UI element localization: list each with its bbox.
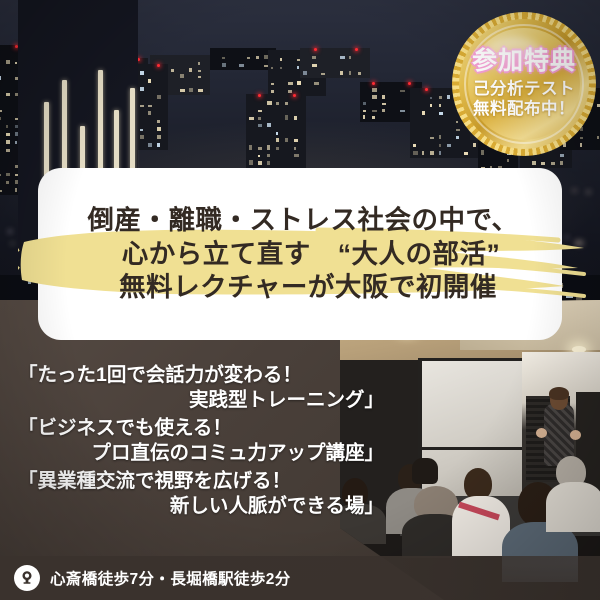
building-window <box>288 82 292 85</box>
building-window <box>413 144 416 147</box>
building-window <box>276 138 279 142</box>
building-window <box>439 112 443 115</box>
building-window <box>297 81 301 85</box>
building-window <box>258 124 262 127</box>
badge-gloss <box>484 37 544 75</box>
quote-list: 「たった1回で会話力が変わる！ 実践型トレーニング」 「ビジネスでも使える！ プ… <box>18 366 384 525</box>
building-window <box>198 76 201 78</box>
building-window <box>532 161 536 165</box>
building-window <box>267 154 270 157</box>
building-window <box>239 64 244 67</box>
building-window <box>6 93 10 96</box>
building-window <box>148 111 151 115</box>
building-window <box>294 154 299 157</box>
building-window <box>541 162 544 165</box>
building-window <box>439 96 443 99</box>
building-window <box>551 162 556 165</box>
building-window <box>349 71 351 75</box>
building-window <box>280 58 282 61</box>
building-window <box>157 95 162 99</box>
building-window <box>560 161 563 165</box>
building-window <box>15 62 17 64</box>
quote-line-top: 「異業種交流で視野を広げる！ <box>18 472 384 492</box>
antenna-light <box>258 94 261 97</box>
building-window <box>249 160 253 164</box>
building-window <box>6 125 8 128</box>
building-window <box>439 151 442 155</box>
building-window <box>363 102 366 105</box>
headline-line-2: 心から立て直す “大人の部活” <box>122 239 501 270</box>
building-window <box>6 181 9 184</box>
building-window <box>285 138 288 142</box>
building-window <box>285 102 288 104</box>
building-window <box>148 105 152 107</box>
building-window <box>314 82 318 85</box>
badge-line-2: 無料配布中！ <box>473 100 575 119</box>
building-window <box>140 129 143 131</box>
building-window <box>247 57 250 59</box>
building-window <box>6 173 10 176</box>
building-window <box>597 136 600 139</box>
building-window <box>321 73 325 75</box>
building-window <box>258 110 262 112</box>
quote-line-top: 「たった1回で会話力が変わる！ <box>18 366 384 386</box>
antenna-light <box>425 88 428 91</box>
building-window <box>256 56 259 59</box>
city-light <box>586 190 592 194</box>
building-window <box>363 115 365 119</box>
building-window <box>312 64 317 67</box>
building-window <box>447 95 450 99</box>
building-window <box>249 145 252 149</box>
building-window <box>430 104 432 107</box>
building-window <box>249 117 254 120</box>
building-window <box>439 104 441 107</box>
quote-item: 「ビジネスでも使える！ プロ直伝のコミュ力アップ講座」 <box>18 419 384 463</box>
building-window <box>222 63 226 67</box>
building-window <box>189 68 192 72</box>
building-window <box>303 71 307 75</box>
promo-poster: 倒産・離職・ストレス社会の中で、 心から立て直す “大人の部活” 無料レクチャー… <box>0 0 600 600</box>
building-window <box>349 56 351 59</box>
audience-cap <box>412 458 438 484</box>
headline-line-3: 無料レクチャーが大阪で初開催 <box>119 272 497 303</box>
building-window <box>271 67 273 69</box>
building-window <box>258 155 260 157</box>
badge-line-1: 己分析テスト <box>473 80 575 99</box>
building-window <box>0 190 2 192</box>
building-window <box>430 151 434 155</box>
building-window <box>276 102 279 104</box>
badge-face: 参加特典 己分析テスト 無料配布中！ <box>468 28 580 140</box>
building-window <box>267 145 270 149</box>
building-window <box>312 56 316 59</box>
building-window <box>140 71 144 75</box>
building-window <box>189 88 193 92</box>
building-window <box>198 89 203 93</box>
building-window <box>222 57 226 59</box>
building-window <box>271 83 274 85</box>
building-window <box>447 144 451 147</box>
location-pin-icon <box>14 565 40 591</box>
building-window <box>267 101 272 104</box>
quote-line-bottom: 新しい人脈ができる場」 <box>18 497 384 517</box>
antenna-light <box>314 48 317 51</box>
building-window <box>340 56 345 59</box>
building-window <box>280 67 282 69</box>
building-window <box>157 143 160 147</box>
quote-line-bottom: プロ直伝のコミュ力アップ講座」 <box>18 444 384 464</box>
building-window <box>507 159 510 162</box>
bonus-badge: 参加特典 己分析テスト 無料配布中！ <box>452 12 596 156</box>
quote-item: 「異業種交流で視野を広げる！ 新しい人脈ができる場」 <box>18 472 384 516</box>
headline-line-1: 倒産・離職・ストレス社会の中で、 <box>88 205 519 236</box>
building-window <box>0 174 1 176</box>
speaker-hair <box>549 387 569 400</box>
building-window <box>6 140 10 144</box>
audience-shoulder <box>546 482 600 532</box>
building-window <box>0 117 1 120</box>
building-window <box>267 161 270 164</box>
building-window <box>276 147 279 149</box>
building-window <box>180 74 184 78</box>
building-window <box>422 111 425 115</box>
building-window <box>566 295 573 298</box>
building-window <box>372 95 377 99</box>
antenna-light <box>293 94 296 97</box>
building-window <box>422 151 424 155</box>
building-window <box>430 137 434 139</box>
building-window <box>140 87 144 91</box>
building-window <box>180 89 185 92</box>
city-light <box>572 189 576 192</box>
quote-line-top: 「ビジネスでも使える！ <box>18 419 384 439</box>
building-window <box>400 110 405 112</box>
building-window <box>340 71 343 75</box>
access-text: 心斎橋徒歩7分・長堀橋駅徒歩2分 <box>50 567 291 589</box>
building-window <box>15 141 17 144</box>
building-window <box>430 97 432 99</box>
building-window <box>276 132 278 135</box>
building-window <box>157 120 160 123</box>
building-window <box>258 117 261 119</box>
quote-item: 「たった1回で会話力が変わる！ 実践型トレーニング」 <box>18 366 384 410</box>
building-window <box>6 133 10 136</box>
speaker-hand <box>536 428 547 438</box>
access-bar: 心斎橋徒歩7分・長堀橋駅徒歩2分 <box>0 556 600 600</box>
building-window <box>372 88 377 92</box>
building-window <box>28 281 31 284</box>
speaker-hand <box>570 430 581 440</box>
building-window <box>363 110 366 112</box>
building-window <box>6 60 10 64</box>
building-window <box>157 127 162 131</box>
building-window <box>439 135 442 139</box>
building-window <box>285 115 288 119</box>
city-light <box>565 236 569 239</box>
building-window <box>294 116 297 120</box>
building-window <box>358 72 361 75</box>
building-window <box>15 188 17 192</box>
building-window <box>597 104 600 107</box>
building-window <box>400 90 405 92</box>
building-window <box>382 109 385 112</box>
building-window <box>294 147 296 149</box>
building-window <box>140 105 145 107</box>
building-window <box>148 79 151 83</box>
antenna-light <box>355 48 358 51</box>
building-window <box>372 110 377 113</box>
building-window <box>372 116 375 119</box>
building-window <box>382 103 387 105</box>
building-window <box>288 90 292 93</box>
building-window <box>382 95 385 98</box>
building-window <box>0 110 2 112</box>
building-window <box>0 76 1 80</box>
building-window <box>198 70 201 72</box>
quote-line-bottom: 実践型トレーニング」 <box>18 391 384 411</box>
building-window <box>267 123 271 127</box>
city-light <box>574 240 583 247</box>
headline-text: 倒産・離職・ストレス社会の中で、 心から立て直す “大人の部活” 無料レクチャー… <box>38 168 562 340</box>
building-window <box>294 139 298 142</box>
building-window <box>297 66 299 69</box>
building-window <box>258 161 262 164</box>
building-window <box>140 135 144 139</box>
building-window <box>171 69 174 72</box>
building-window <box>271 90 274 93</box>
building-window <box>148 143 152 147</box>
building-window <box>157 135 162 139</box>
building-window <box>413 151 418 155</box>
building-window <box>6 149 10 152</box>
building-window <box>258 147 262 150</box>
building-window <box>198 62 200 65</box>
building-window <box>439 144 442 147</box>
